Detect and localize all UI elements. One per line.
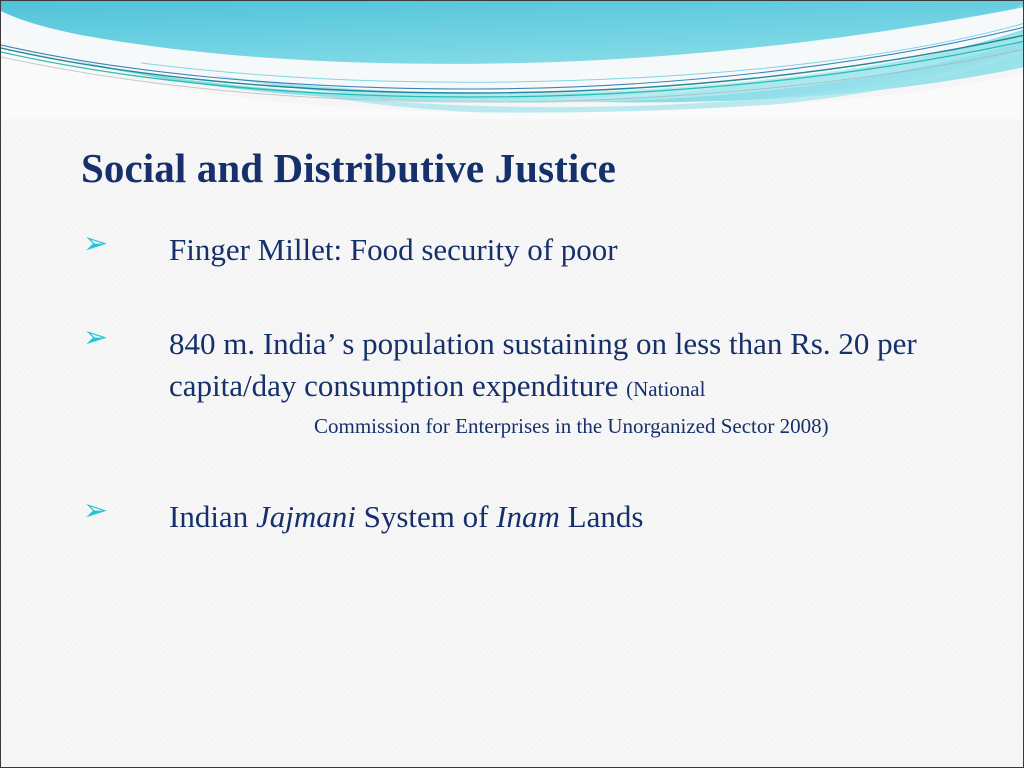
jajmani-middle: System of: [356, 499, 496, 534]
arrow-bullet-icon: ➢: [83, 323, 117, 353]
bullet-line-1: 840 m. India’ s population sustaining on…: [169, 326, 831, 361]
jajmani-suffix: Lands: [560, 499, 644, 534]
jajmani-prefix: Indian: [169, 499, 256, 534]
slide-content: Social and Distributive Justice ➢ Finger…: [1, 1, 1023, 767]
spacer: [81, 442, 991, 496]
spacer: [81, 271, 991, 323]
slide-title: Social and Distributive Justice: [81, 144, 616, 192]
arrow-bullet-icon: ➢: [83, 496, 117, 526]
presentation-slide: Social and Distributive Justice ➢ Finger…: [0, 0, 1024, 768]
list-item-jajmani-inam: ➢ Indian Jajmani System of Inam Lands: [81, 496, 991, 538]
inam-italic-term: Inam: [496, 499, 560, 534]
list-item-population-expenditure: ➢ 840 m. India’ s population sustaining …: [81, 323, 991, 442]
bullet-text-finger-millet: Finger Millet: Food security of poor: [169, 229, 991, 271]
jajmani-italic-term: Jajmani: [256, 499, 356, 534]
citation-open: (National: [626, 377, 705, 401]
citation-continuation: Commission for Enterprises in the Unorga…: [169, 410, 991, 442]
bullet-list: ➢ Finger Millet: Food security of poor ➢…: [81, 229, 991, 538]
bullet-text-population-expenditure: 840 m. India’ s population sustaining on…: [169, 323, 991, 410]
bullet-text-jajmani-inam: Indian Jajmani System of Inam Lands: [169, 496, 991, 538]
arrow-bullet-icon: ➢: [83, 229, 117, 259]
list-item-finger-millet: ➢ Finger Millet: Food security of poor: [81, 229, 991, 271]
